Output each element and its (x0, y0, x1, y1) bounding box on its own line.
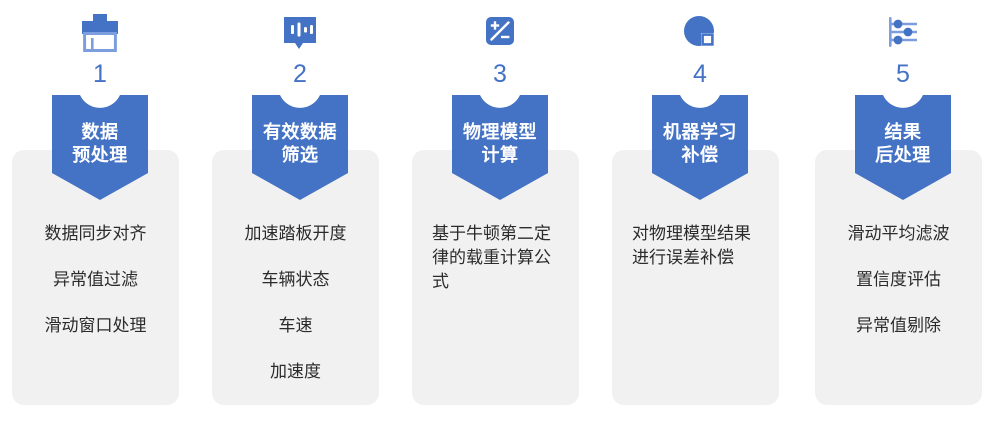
list-item: 对物理模型结果进行误差补偿 (632, 222, 760, 270)
process-step-5: 5 结果后处理 滑动平均滤波 置信度评估 异常值剔除 (803, 0, 993, 426)
speech-bubble-waveform-icon (200, 10, 400, 58)
process-step-3: 3 物理模型计算 基于牛顿第二定律的载重计算公式 (400, 0, 600, 426)
step-banner: 有效数据筛选 (252, 95, 348, 200)
process-flow-diagram: 1 数据预处理 数据同步对齐 异常值过滤 滑动窗口处理 (0, 0, 993, 426)
step-item-list: 加速踏板开度 车辆状态 车速 加速度 (212, 222, 379, 385)
storefront-icon (0, 10, 200, 58)
step-banner: 机器学习补偿 (652, 95, 748, 200)
step-banner: 物理模型计算 (452, 95, 548, 200)
sliders-settings-icon (803, 10, 993, 58)
step-number: 5 (803, 62, 993, 87)
list-item: 滑动平均滤波 (848, 222, 950, 246)
step-item-list: 对物理模型结果进行误差补偿 (612, 222, 779, 270)
list-item: 车速 (279, 314, 313, 338)
step-number: 3 (400, 62, 600, 87)
list-item: 滑动窗口处理 (45, 314, 147, 338)
plus-minus-calculation-icon (400, 10, 600, 58)
list-item: 异常值过滤 (53, 268, 138, 292)
step-number: 2 (200, 62, 400, 87)
list-item: 车辆状态 (262, 268, 330, 292)
step-banner: 数据预处理 (52, 95, 148, 200)
list-item: 数据同步对齐 (45, 222, 147, 246)
list-item: 异常值剔除 (856, 314, 941, 338)
process-step-2: 2 有效数据筛选 加速踏板开度 车辆状态 车速 加速度 (200, 0, 400, 426)
step-item-list: 基于牛顿第二定律的载重计算公式 (412, 222, 579, 294)
list-item: 加速度 (270, 360, 321, 384)
step-number: 1 (0, 62, 200, 87)
list-item: 置信度评估 (856, 268, 941, 292)
step-item-list: 滑动平均滤波 置信度评估 异常值剔除 (815, 222, 982, 338)
step-item-list: 数据同步对齐 异常值过滤 滑动窗口处理 (12, 222, 179, 338)
step-number: 4 (600, 62, 800, 87)
process-step-1: 1 数据预处理 数据同步对齐 异常值过滤 滑动窗口处理 (0, 0, 200, 426)
pie-chart-icon (600, 10, 800, 58)
list-item: 加速踏板开度 (245, 222, 347, 246)
list-item: 基于牛顿第二定律的载重计算公式 (432, 222, 560, 294)
step-banner: 结果后处理 (855, 95, 951, 200)
process-step-4: 4 机器学习补偿 对物理模型结果进行误差补偿 (600, 0, 800, 426)
